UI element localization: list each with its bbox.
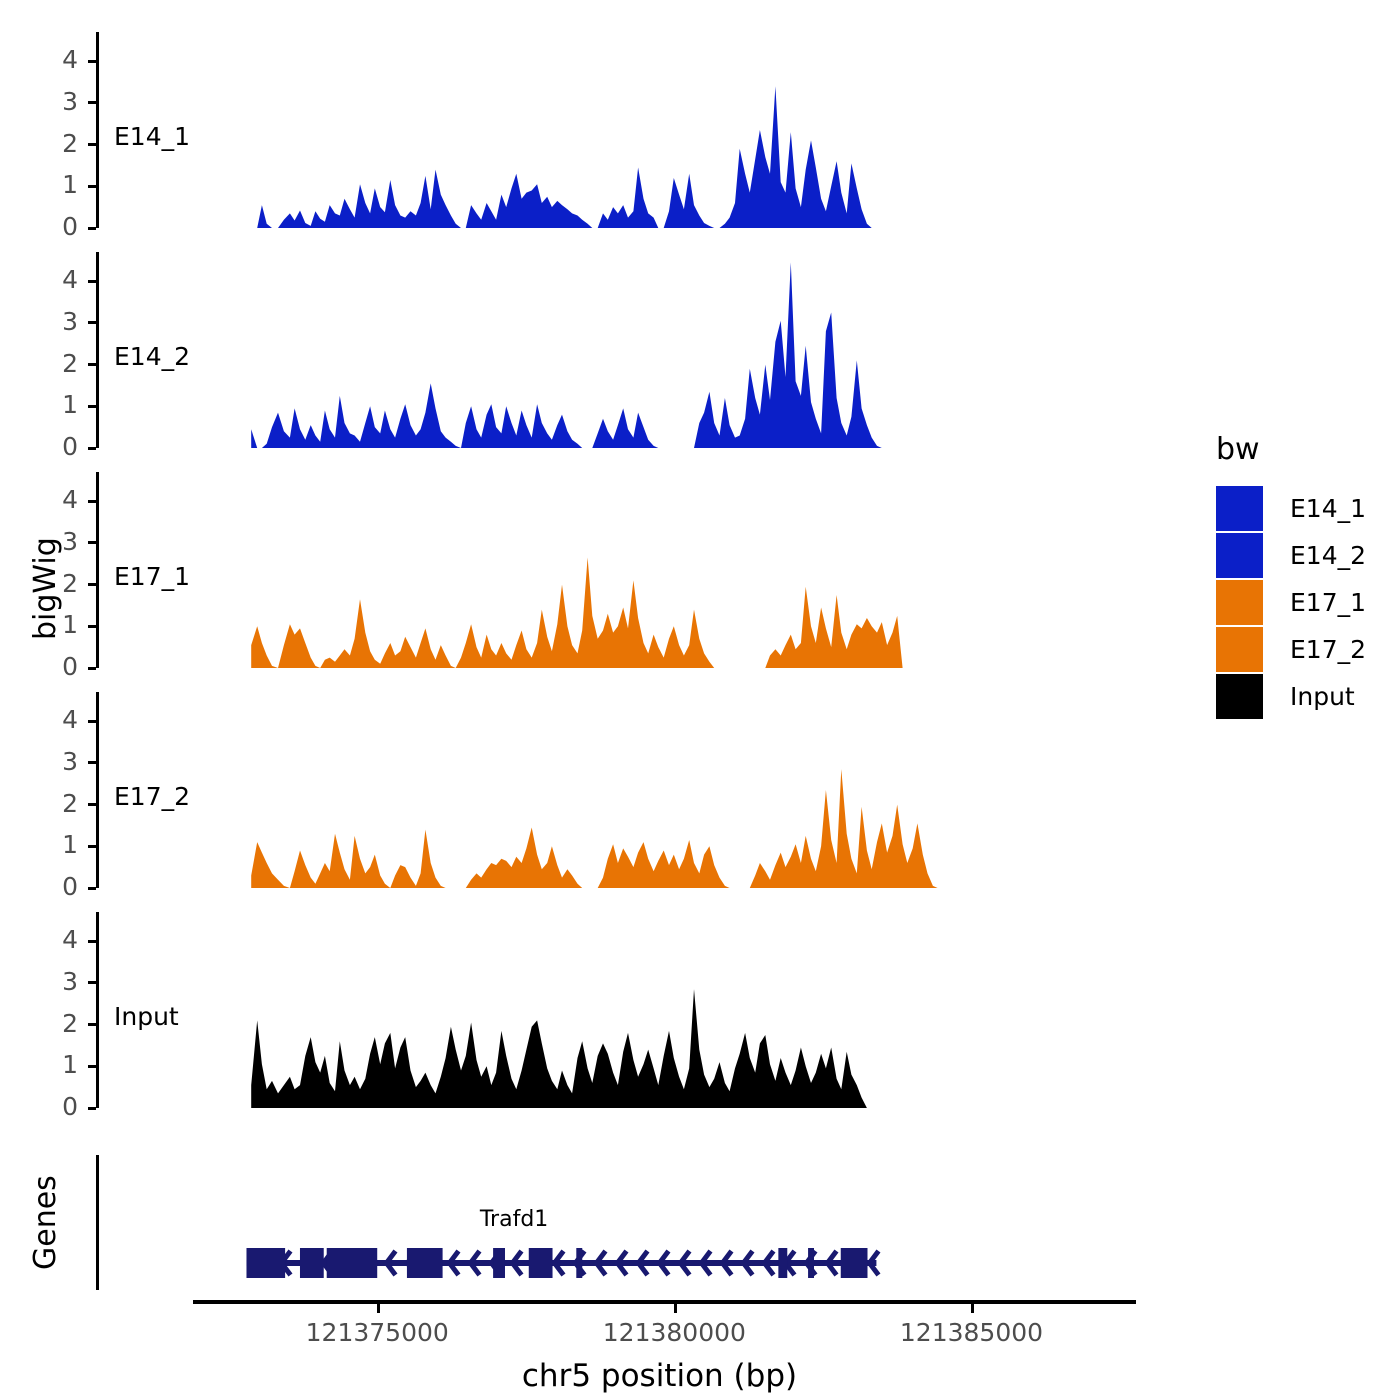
- y-axis-tick: [88, 321, 96, 324]
- y-axis-tick: [88, 887, 96, 890]
- x-axis-line: [193, 1300, 1136, 1304]
- y-axis-tick: [88, 500, 96, 503]
- track-label-e14_1: E14_1: [114, 122, 190, 151]
- track-label-e17_1: E17_1: [114, 562, 190, 591]
- y-axis-tick: [88, 803, 96, 806]
- y-axis-tick: [88, 405, 96, 408]
- y-axis-tick-label: 0: [34, 434, 78, 459]
- y-axis-tick-label: 2: [34, 791, 78, 816]
- legend-item-label: E17_1: [1290, 588, 1366, 617]
- y-axis-tick-label: 3: [34, 749, 78, 774]
- legend-item-e17_2[interactable]: E17_2: [1216, 626, 1366, 673]
- y-axis-tick-label: 4: [34, 927, 78, 952]
- y-axis-tick-label: 2: [34, 351, 78, 376]
- bigwig-panel-input: 01234Input: [0, 912, 1160, 1108]
- signal-area-e17_1[interactable]: [193, 472, 1126, 668]
- signal-area-e14_1[interactable]: [193, 32, 1126, 228]
- y-axis-line: [96, 472, 99, 668]
- y-axis-tick: [88, 447, 96, 450]
- y-axis-tick: [88, 541, 96, 544]
- y-axis-tick-label: 1: [34, 172, 78, 197]
- legend-item-label: Input: [1290, 682, 1355, 711]
- y-axis-tick: [88, 720, 96, 723]
- signal-area-e17_2[interactable]: [193, 692, 1126, 888]
- y-axis-line: [96, 252, 99, 448]
- y-axis-tick: [88, 981, 96, 984]
- y-axis-tick-label: 0: [34, 1094, 78, 1119]
- y-axis-line: [96, 692, 99, 888]
- legend-item-label: E14_1: [1290, 494, 1366, 523]
- legend-swatch-icon: [1216, 533, 1263, 578]
- legend-item-e17_1[interactable]: E17_1: [1216, 579, 1366, 626]
- y-axis-tick-label: 2: [34, 571, 78, 596]
- y-axis-tick-label: 0: [34, 214, 78, 239]
- bigwig-panel-e17_2: 01234E17_2: [0, 692, 1160, 888]
- legend-swatch-icon: [1216, 580, 1263, 625]
- x-axis-tick-label: 121375000: [287, 1318, 467, 1347]
- track-label-e14_2: E14_2: [114, 342, 190, 371]
- y-axis-tick: [88, 667, 96, 670]
- y-axis-tick-label: 4: [34, 267, 78, 292]
- y-axis-tick: [88, 761, 96, 764]
- track-label-e17_2: E17_2: [114, 782, 190, 811]
- genes-axis-line: [96, 1155, 99, 1290]
- x-axis-tick-label: 121380000: [584, 1318, 764, 1347]
- x-axis-tick-label: 121385000: [881, 1318, 1061, 1347]
- legend: bw E14_1E14_2E17_1E17_2Input: [1216, 432, 1366, 720]
- x-axis-title: chr5 position (bp): [193, 1358, 1126, 1394]
- bigwig-panel-e17_1: 01234E17_1: [0, 472, 1160, 668]
- y-axis-tick: [88, 625, 96, 628]
- y-axis-tick: [88, 1107, 96, 1110]
- y-axis-tick-label: 2: [34, 131, 78, 156]
- legend-item-input[interactable]: Input: [1216, 673, 1366, 720]
- y-axis-tick-label: 1: [34, 392, 78, 417]
- legend-title: bw: [1216, 432, 1366, 467]
- y-axis-tick-label: 2: [34, 1011, 78, 1036]
- y-axis-tick-label: 3: [34, 89, 78, 114]
- x-axis-tick: [377, 1304, 380, 1313]
- y-axis-tick-label: 1: [34, 612, 78, 637]
- legend-item-label: E14_2: [1290, 541, 1366, 570]
- y-axis-tick-label: 1: [34, 1052, 78, 1077]
- y-axis-tick-label: 4: [34, 47, 78, 72]
- y-axis-tick: [88, 363, 96, 366]
- signal-area-e14_2[interactable]: [193, 252, 1126, 448]
- y-axis-tick: [88, 1023, 96, 1026]
- y-axis-tick-label: 1: [34, 832, 78, 857]
- y-axis-tick-label: 0: [34, 654, 78, 679]
- y-axis-tick-label: 4: [34, 487, 78, 512]
- y-axis-tick: [88, 940, 96, 943]
- y-axis-line: [96, 32, 99, 228]
- y-axis-tick: [88, 845, 96, 848]
- y-axis-tick: [88, 1065, 96, 1068]
- legend-swatch-icon: [1216, 486, 1263, 531]
- y-axis-tick: [88, 60, 96, 63]
- y-axis-tick-label: 0: [34, 874, 78, 899]
- gene-model[interactable]: [193, 1155, 1126, 1290]
- y-axis-tick-label: 3: [34, 969, 78, 994]
- y-axis-tick: [88, 583, 96, 586]
- legend-swatch-icon: [1216, 674, 1263, 719]
- x-axis-tick: [674, 1304, 677, 1313]
- y-axis-tick: [88, 280, 96, 283]
- y-axis-tick: [88, 185, 96, 188]
- y-axis-tick-label: 3: [34, 309, 78, 334]
- y-axis-tick: [88, 101, 96, 104]
- y-axis-tick: [88, 143, 96, 146]
- track-label-input: Input: [114, 1002, 179, 1031]
- y-axis-tick: [88, 227, 96, 230]
- gene-track-panel: Trafd1: [0, 1155, 1160, 1290]
- legend-item-e14_1[interactable]: E14_1: [1216, 485, 1366, 532]
- signal-area-input[interactable]: [193, 912, 1126, 1108]
- x-axis-tick: [971, 1304, 974, 1313]
- y-axis-tick-label: 4: [34, 707, 78, 732]
- legend-item-e14_2[interactable]: E14_2: [1216, 532, 1366, 579]
- legend-swatch-icon: [1216, 627, 1263, 672]
- bigwig-panel-e14_1: 01234E14_1: [0, 32, 1160, 228]
- bigwig-panel-e14_2: 01234E14_2: [0, 252, 1160, 448]
- legend-items: E14_1E14_2E17_1E17_2Input: [1216, 485, 1366, 720]
- legend-item-label: E17_2: [1290, 635, 1366, 664]
- y-axis-line: [96, 912, 99, 1108]
- y-axis-tick-label: 3: [34, 529, 78, 554]
